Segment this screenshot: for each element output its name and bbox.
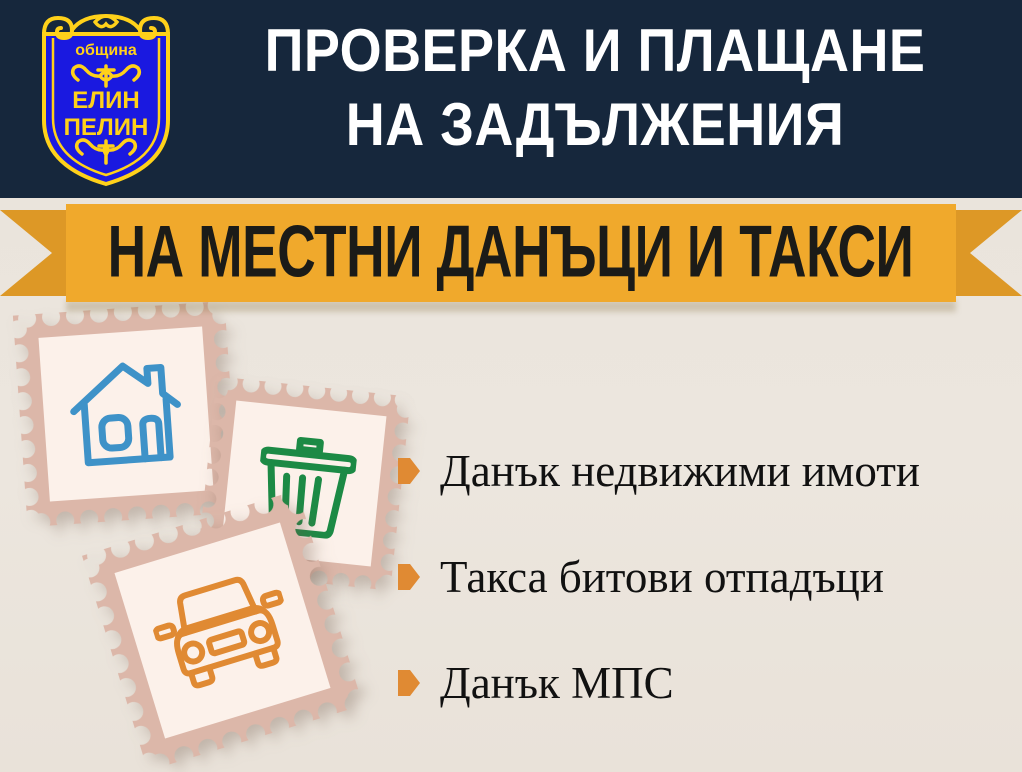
- municipality-logo: община ЕЛИН ПЕЛИН: [26, 8, 186, 190]
- page-title: ПРОВЕРКА И ПЛАЩАНЕ НА ЗАДЪЛЖЕНИЯ: [217, 14, 973, 162]
- list-item-label: Данък МПС: [440, 658, 674, 708]
- ribbon-body: НА МЕСТНИ ДАНЪЦИ И ТАКСИ: [66, 204, 956, 302]
- ribbon-banner: НА МЕСТНИ ДАНЪЦИ И ТАКСИ: [0, 196, 1022, 308]
- logo-main-text-2: ПЕЛИН: [64, 114, 149, 141]
- arrow-bullet-icon: [398, 670, 420, 696]
- ribbon-label: НА МЕСТНИ ДАНЪЦИ И ТАКСИ: [108, 216, 914, 289]
- stamp-collection: [0, 300, 420, 772]
- list-item[interactable]: Данък МПС: [398, 630, 1018, 736]
- arrow-bullet-icon: [398, 564, 420, 590]
- logo-small-text: община: [75, 42, 137, 59]
- list-item-label: Такса битови отпадъци: [440, 552, 884, 602]
- house-icon: [66, 356, 185, 472]
- tax-type-list: Данък недвижими имоти Такса битови отпад…: [398, 418, 1018, 736]
- arrow-bullet-icon: [398, 458, 420, 484]
- list-item-label: Данък недвижими имоти: [440, 446, 920, 496]
- list-item[interactable]: Данък недвижими имоти: [398, 418, 1018, 524]
- header-band: община ЕЛИН ПЕЛИН ПРОВЕРКА И ПЛАЩАНЕ НА …: [0, 0, 1022, 198]
- list-item[interactable]: Такса битови отпадъци: [398, 524, 1018, 630]
- poster-canvas: община ЕЛИН ПЕЛИН ПРОВЕРКА И ПЛАЩАНЕ НА …: [0, 0, 1022, 772]
- logo-main-text-1: ЕЛИН: [72, 87, 139, 114]
